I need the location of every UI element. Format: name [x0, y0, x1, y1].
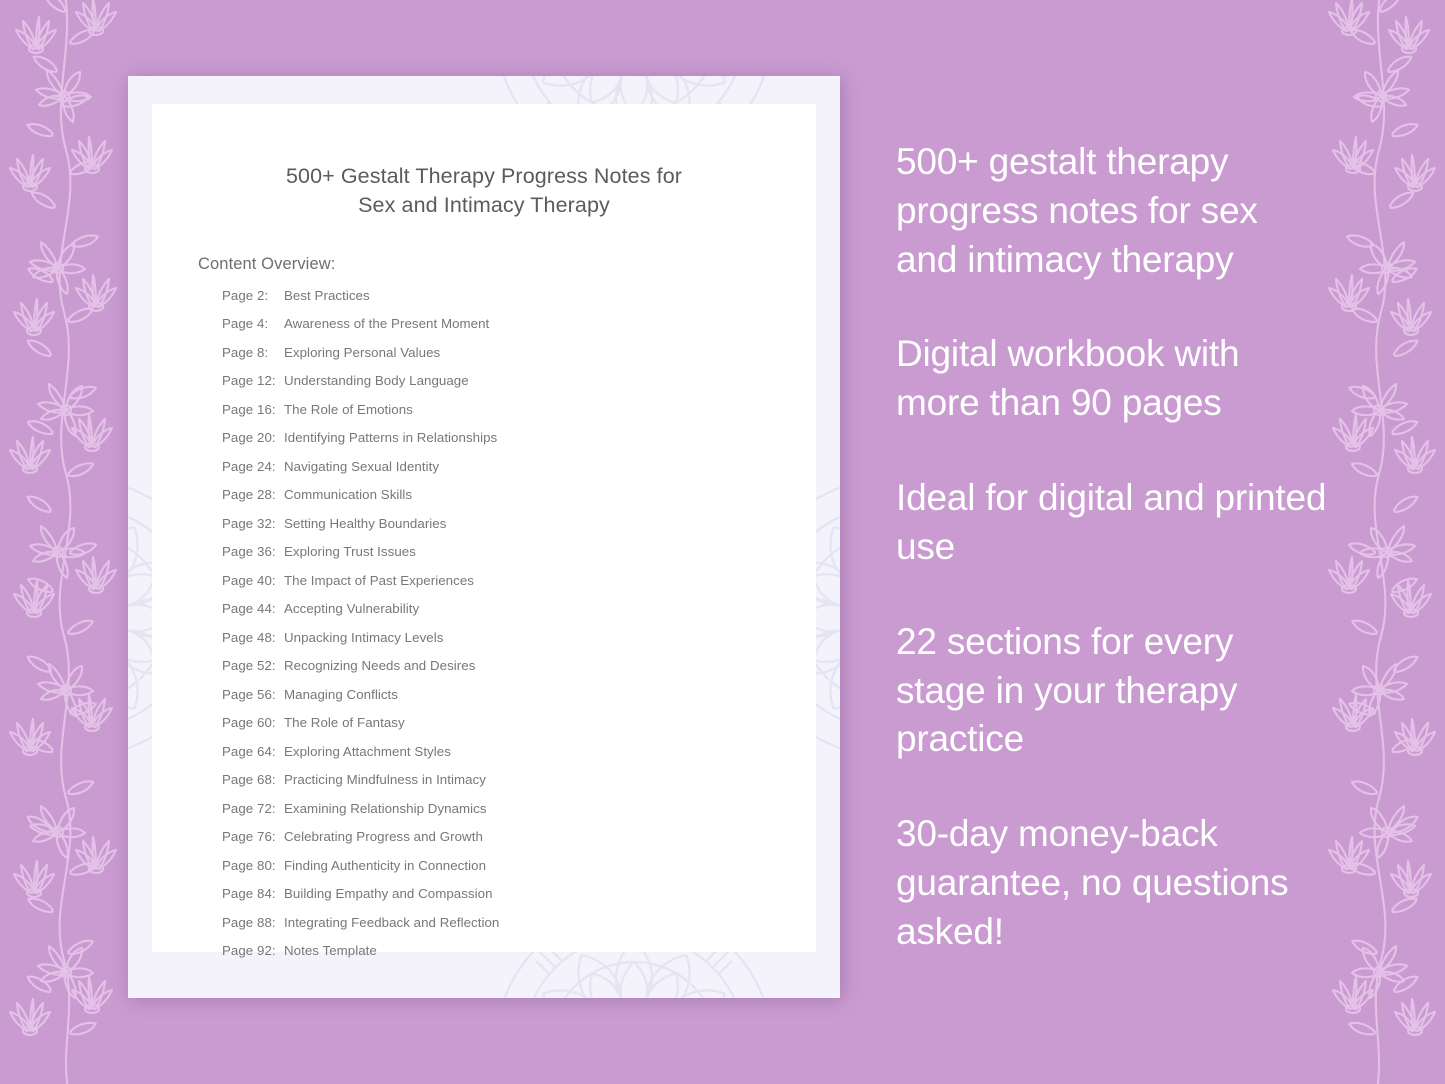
toc-entry-page: Page 60:: [222, 716, 280, 729]
toc-entry: Page 68:Practicing Mindfulness in Intima…: [222, 773, 816, 786]
toc-entry-title: Exploring Personal Values: [280, 346, 440, 359]
toc-entry-page: Page 32:: [222, 517, 280, 530]
toc-entry: Page 12:Understanding Body Language: [222, 374, 816, 387]
toc-entry-title: Practicing Mindfulness in Intimacy: [280, 773, 486, 786]
toc-entry-page: Page 64:: [222, 745, 280, 758]
toc-entry-page: Page 88:: [222, 916, 280, 929]
toc-entry: Page 80:Finding Authenticity in Connecti…: [222, 859, 816, 872]
toc-entry-page: Page 24:: [222, 460, 280, 473]
toc-entry-title: Identifying Patterns in Relationships: [280, 431, 497, 444]
toc-entry: Page 88:Integrating Feedback and Reflect…: [222, 916, 816, 929]
toc-entry-title: Managing Conflicts: [280, 688, 398, 701]
feature-item: Digital workbook with more than 90 pages: [896, 330, 1328, 428]
toc-entry-title: Notes Template: [280, 944, 377, 957]
toc-entry: Page 2:Best Practices: [222, 289, 816, 302]
toc-entry-page: Page 44:: [222, 602, 280, 615]
toc-entry-page: Page 72:: [222, 802, 280, 815]
toc-entry-title: Integrating Feedback and Reflection: [280, 916, 499, 929]
toc-entry-page: Page 48:: [222, 631, 280, 644]
floral-vine-icon: [1315, 0, 1445, 1084]
table-of-contents: Page 2:Best PracticesPage 4:Awareness of…: [152, 274, 816, 957]
toc-entry-title: Accepting Vulnerability: [280, 602, 419, 615]
poster-canvas: 500+ Gestalt Therapy Progress Notes for …: [0, 0, 1445, 1084]
toc-entry-title: Recognizing Needs and Desires: [280, 659, 475, 672]
toc-entry-page: Page 12:: [222, 374, 280, 387]
toc-entry-title: Exploring Attachment Styles: [280, 745, 451, 758]
toc-entry-title: Setting Healthy Boundaries: [280, 517, 446, 530]
toc-entry-title: Understanding Body Language: [280, 374, 469, 387]
toc-entry: Page 36:Exploring Trust Issues: [222, 545, 816, 558]
toc-entry: Page 60:The Role of Fantasy: [222, 716, 816, 729]
toc-entry: Page 72:Examining Relationship Dynamics: [222, 802, 816, 815]
toc-entry-title: Communication Skills: [280, 488, 412, 501]
toc-entry: Page 32:Setting Healthy Boundaries: [222, 517, 816, 530]
page-title-line-1: 500+ Gestalt Therapy Progress Notes for: [286, 164, 682, 188]
toc-entry: Page 92:Notes Template: [222, 944, 816, 957]
toc-entry-title: The Role of Fantasy: [280, 716, 405, 729]
toc-entry-title: Finding Authenticity in Connection: [280, 859, 486, 872]
toc-entry-page: Page 28:: [222, 488, 280, 501]
toc-entry: Page 24:Navigating Sexual Identity: [222, 460, 816, 473]
toc-entry-title: Navigating Sexual Identity: [280, 460, 439, 473]
toc-entry-title: Exploring Trust Issues: [280, 545, 416, 558]
toc-entry-page: Page 16:: [222, 403, 280, 416]
floral-vine-icon: [0, 0, 130, 1084]
toc-entry: Page 52:Recognizing Needs and Desires: [222, 659, 816, 672]
page-title: 500+ Gestalt Therapy Progress Notes for …: [152, 104, 816, 221]
toc-entry: Page 8:Exploring Personal Values: [222, 346, 816, 359]
toc-entry-page: Page 36:: [222, 545, 280, 558]
toc-entry: Page 44:Accepting Vulnerability: [222, 602, 816, 615]
toc-entry-title: Awareness of the Present Moment: [280, 317, 489, 330]
toc-entry-page: Page 80:: [222, 859, 280, 872]
toc-entry-page: Page 4:: [222, 317, 280, 330]
toc-entry: Page 16:The Role of Emotions: [222, 403, 816, 416]
toc-entry-title: Building Empathy and Compassion: [280, 887, 493, 900]
toc-entry: Page 40:The Impact of Past Experiences: [222, 574, 816, 587]
feature-list: 500+ gestalt therapy progress notes for …: [896, 138, 1328, 957]
feature-item: 500+ gestalt therapy progress notes for …: [896, 138, 1328, 284]
document-page: 500+ Gestalt Therapy Progress Notes for …: [152, 104, 816, 952]
toc-entry: Page 56:Managing Conflicts: [222, 688, 816, 701]
toc-entry-page: Page 20:: [222, 431, 280, 444]
toc-entry-page: Page 2:: [222, 289, 280, 302]
toc-entry-page: Page 84:: [222, 887, 280, 900]
toc-entry-page: Page 68:: [222, 773, 280, 786]
toc-entry-title: Best Practices: [280, 289, 370, 302]
toc-entry-title: Unpacking Intimacy Levels: [280, 631, 443, 644]
toc-entry: Page 4:Awareness of the Present Moment: [222, 317, 816, 330]
feature-item: Ideal for digital and printed use: [896, 474, 1328, 572]
toc-entry-page: Page 76:: [222, 830, 280, 843]
toc-entry-title: The Impact of Past Experiences: [280, 574, 474, 587]
toc-entry: Page 20:Identifying Patterns in Relation…: [222, 431, 816, 444]
toc-entry: Page 64:Exploring Attachment Styles: [222, 745, 816, 758]
toc-entry: Page 84:Building Empathy and Compassion: [222, 887, 816, 900]
feature-item: 30-day money-back guarantee, no question…: [896, 810, 1328, 956]
feature-item: 22 sections for every stage in your ther…: [896, 618, 1328, 764]
toc-entry-title: Celebrating Progress and Growth: [280, 830, 483, 843]
document-card[interactable]: 500+ Gestalt Therapy Progress Notes for …: [128, 76, 840, 998]
toc-entry-page: Page 56:: [222, 688, 280, 701]
toc-entry-title: The Role of Emotions: [280, 403, 413, 416]
toc-entry-title: Examining Relationship Dynamics: [280, 802, 487, 815]
toc-entry-page: Page 92:: [222, 944, 280, 957]
page-title-line-2: Sex and Intimacy Therapy: [358, 193, 610, 217]
toc-entry: Page 28:Communication Skills: [222, 488, 816, 501]
toc-entry-page: Page 8:: [222, 346, 280, 359]
toc-entry: Page 76:Celebrating Progress and Growth: [222, 830, 816, 843]
content-overview-label: Content Overview:: [152, 221, 816, 274]
toc-entry-page: Page 40:: [222, 574, 280, 587]
toc-entry-page: Page 52:: [222, 659, 280, 672]
toc-entry: Page 48:Unpacking Intimacy Levels: [222, 631, 816, 644]
